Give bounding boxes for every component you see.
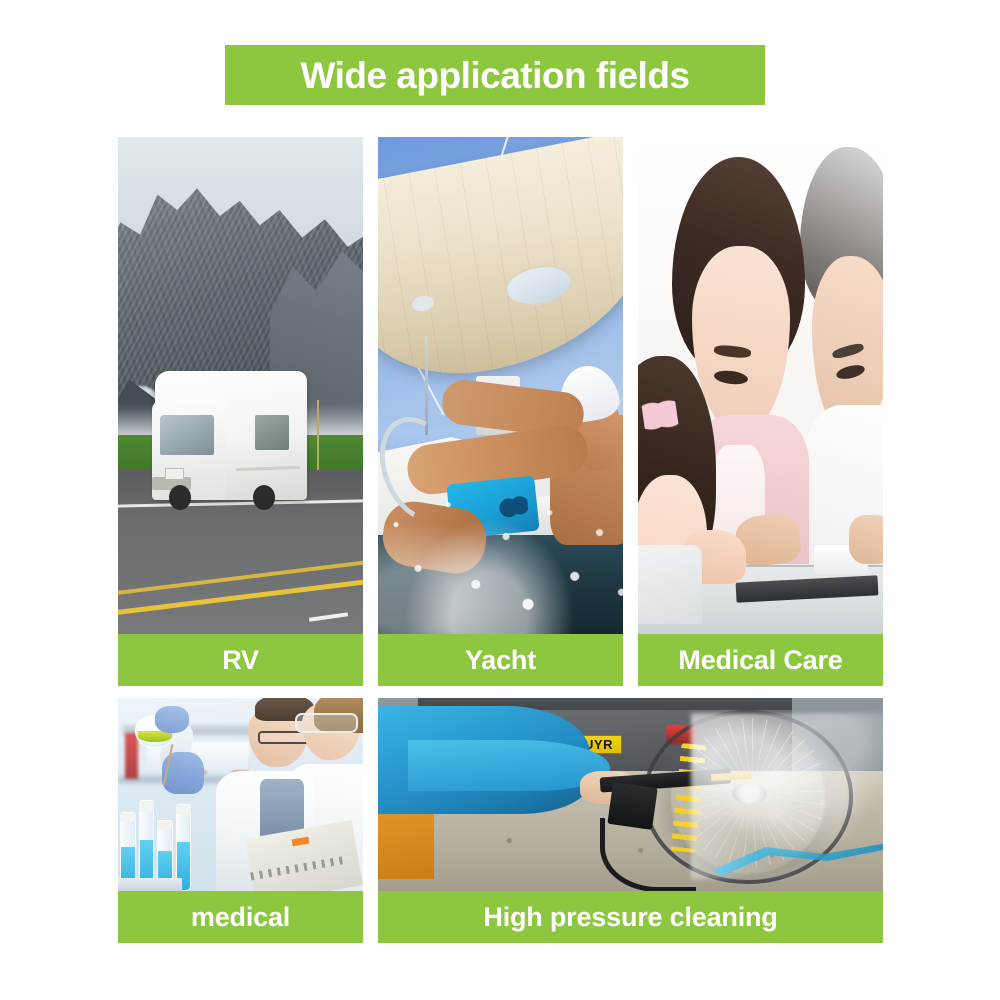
application-card-medical-care[interactable]: Medical Care <box>638 137 883 686</box>
test-tube-rack <box>118 878 182 892</box>
test-tube-cap <box>157 821 172 829</box>
medical-lab-photo <box>118 698 363 891</box>
man-shirt <box>260 779 304 837</box>
motorhome-license-plate <box>165 468 184 480</box>
bicycle-hub <box>732 783 767 804</box>
cleaning-caption-label: High pressure cleaning <box>483 904 777 931</box>
test-tube-cap <box>176 805 191 815</box>
page-title-banner: Wide application fields <box>225 45 765 105</box>
lab-equipment-red-1 <box>125 733 137 779</box>
yacht-caption-bar: Yacht <box>378 634 623 686</box>
medical-care-photo <box>638 137 883 634</box>
application-card-rv[interactable]: RV <box>118 137 363 686</box>
laptop-device <box>638 545 702 625</box>
blue-glove-upper <box>155 706 189 733</box>
test-tube-cap <box>120 813 135 822</box>
test-tube-cap <box>139 801 154 812</box>
rv-caption-label: RV <box>222 647 259 674</box>
motorhome-rear-wheel <box>253 485 275 510</box>
yacht-caption-label: Yacht <box>465 647 536 674</box>
medical-care-caption-bar: Medical Care <box>638 634 883 686</box>
medical-caption-label: medical <box>191 904 290 931</box>
application-card-medical[interactable]: medical <box>118 698 363 943</box>
medical-care-caption-label: Medical Care <box>678 647 842 674</box>
sailor-shorts-print <box>494 493 528 521</box>
page-title: Wide application fields <box>300 57 689 94</box>
rv-photo <box>118 137 363 634</box>
cleaning-caption-bar: High pressure cleaning <box>378 891 883 943</box>
rv-caption-bar: RV <box>118 634 363 686</box>
high-pressure-cleaning-photo: GN64 UYR <box>378 698 883 891</box>
application-card-yacht[interactable]: Yacht <box>378 137 623 686</box>
elderly-man-hand <box>849 515 883 565</box>
yacht-photo <box>378 137 623 634</box>
motorhome-windshield <box>160 415 214 455</box>
pink-hair-bow <box>640 393 679 437</box>
motorhome-side-window <box>255 415 289 450</box>
roadside-pole <box>317 400 319 470</box>
application-card-high-pressure-cleaning[interactable]: GN64 UYR High pressure cleaning <box>378 698 883 943</box>
safety-goggles-icon <box>295 713 358 732</box>
medical-caption-bar: medical <box>118 891 363 943</box>
